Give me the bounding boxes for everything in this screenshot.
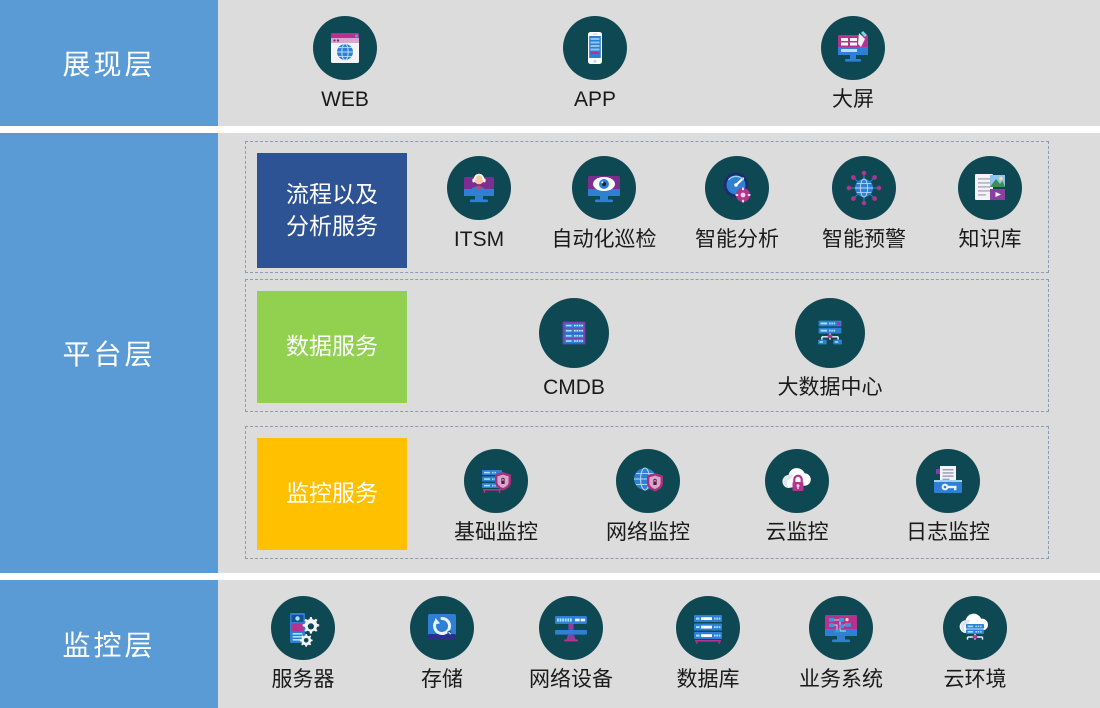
group-process-analysis-tag: 流程以及 分析服务 <box>257 153 407 268</box>
node-business-system[interactable]: 业务系统 <box>776 596 906 690</box>
server-shield-icon <box>464 449 528 513</box>
network-switch-icon <box>539 596 603 660</box>
node-label: 服务器 <box>272 669 335 690</box>
group-tag-line1: 流程以及 <box>286 179 378 210</box>
node-bigscreen[interactable]: 大屏 <box>788 16 918 110</box>
node-cmdb[interactable]: CMDB <box>509 298 639 398</box>
node-storage[interactable]: 存储 <box>377 596 507 690</box>
node-label: 自动化巡检 <box>552 229 657 250</box>
node-label: 数据库 <box>677 669 740 690</box>
network-alert-icon <box>832 156 896 220</box>
node-app[interactable]: APP <box>530 16 660 110</box>
architecture-diagram: 展现层 <box>0 0 1100 708</box>
cloud-server-icon <box>943 596 1007 660</box>
mobile-phone-icon <box>563 16 627 80</box>
layer-platform-label: 平台层 <box>0 133 218 573</box>
node-smart-analysis[interactable]: 智能分析 <box>672 156 802 250</box>
node-itsm[interactable]: ITSM <box>414 156 544 250</box>
node-label: 大屏 <box>832 89 874 110</box>
node-cloud-environment[interactable]: 云环境 <box>910 596 1040 690</box>
group-process-analysis: 流程以及 分析服务 <box>245 141 1049 273</box>
layer-presentation-body: WEB APP <box>218 0 1100 126</box>
data-center-icon <box>795 298 865 368</box>
node-label: 智能分析 <box>695 229 779 250</box>
group-data-service: 数据服务 <box>245 279 1049 412</box>
node-label: 基础监控 <box>454 522 538 543</box>
node-label: 业务系统 <box>799 669 883 690</box>
node-auto-inspection[interactable]: 自动化巡检 <box>539 156 669 250</box>
storage-disk-icon <box>410 596 474 660</box>
layer-monitoring-label: 监控层 <box>0 580 218 708</box>
globe-shield-icon <box>616 449 680 513</box>
node-label: 云监控 <box>766 522 829 543</box>
cloud-lock-icon <box>765 449 829 513</box>
group-monitor-service: 监控服务 <box>245 426 1049 559</box>
layer-platform-body: 流程以及 分析服务 <box>218 133 1100 573</box>
node-server[interactable]: 服务器 <box>238 596 368 690</box>
node-label: WEB <box>321 89 369 110</box>
node-database[interactable]: 数据库 <box>643 596 773 690</box>
web-browser-icon <box>313 16 377 80</box>
node-network-device[interactable]: 网络设备 <box>506 596 636 690</box>
service-desk-icon <box>447 156 511 220</box>
log-key-icon <box>916 449 980 513</box>
node-label: ITSM <box>454 229 504 250</box>
business-system-icon <box>809 596 873 660</box>
layer-presentation: 展现层 <box>0 0 1100 126</box>
group-tag-line2: 分析服务 <box>286 211 378 242</box>
node-label: 知识库 <box>959 229 1022 250</box>
node-big-data-center[interactable]: 大数据中心 <box>765 298 895 398</box>
node-basic-monitor[interactable]: 基础监控 <box>431 449 561 543</box>
node-smart-alert[interactable]: 智能预警 <box>799 156 929 250</box>
node-label: 网络监控 <box>606 522 690 543</box>
node-label: CMDB <box>543 377 605 398</box>
layer-monitoring: 监控层 <box>0 580 1100 708</box>
group-data-service-tag: 数据服务 <box>257 291 407 403</box>
node-knowledge-base[interactable]: 知识库 <box>925 156 1055 250</box>
group-monitor-service-tag: 监控服务 <box>257 438 407 550</box>
node-log-monitor[interactable]: 日志监控 <box>883 449 1013 543</box>
node-label: 云环境 <box>944 669 1007 690</box>
database-icon <box>676 596 740 660</box>
node-network-monitor[interactable]: 网络监控 <box>583 449 713 543</box>
node-cloud-monitor[interactable]: 云监控 <box>732 449 862 543</box>
layer-presentation-label: 展现层 <box>0 0 218 126</box>
knowledge-base-icon <box>958 156 1022 220</box>
layer-platform: 平台层 流程以及 分析服务 <box>0 133 1100 573</box>
server-rack-icon <box>539 298 609 368</box>
monitor-eye-icon <box>572 156 636 220</box>
node-label: 智能预警 <box>822 229 906 250</box>
node-label: 网络设备 <box>529 669 613 690</box>
node-label: 存储 <box>421 669 463 690</box>
layer-monitoring-body: 服务器 存储 <box>218 580 1100 708</box>
node-label: APP <box>574 89 616 110</box>
gauge-analytics-icon <box>705 156 769 220</box>
node-label: 日志监控 <box>906 522 990 543</box>
server-gear-icon <box>271 596 335 660</box>
node-label: 大数据中心 <box>778 377 883 398</box>
node-web[interactable]: WEB <box>280 16 410 110</box>
dashboard-screen-icon <box>821 16 885 80</box>
